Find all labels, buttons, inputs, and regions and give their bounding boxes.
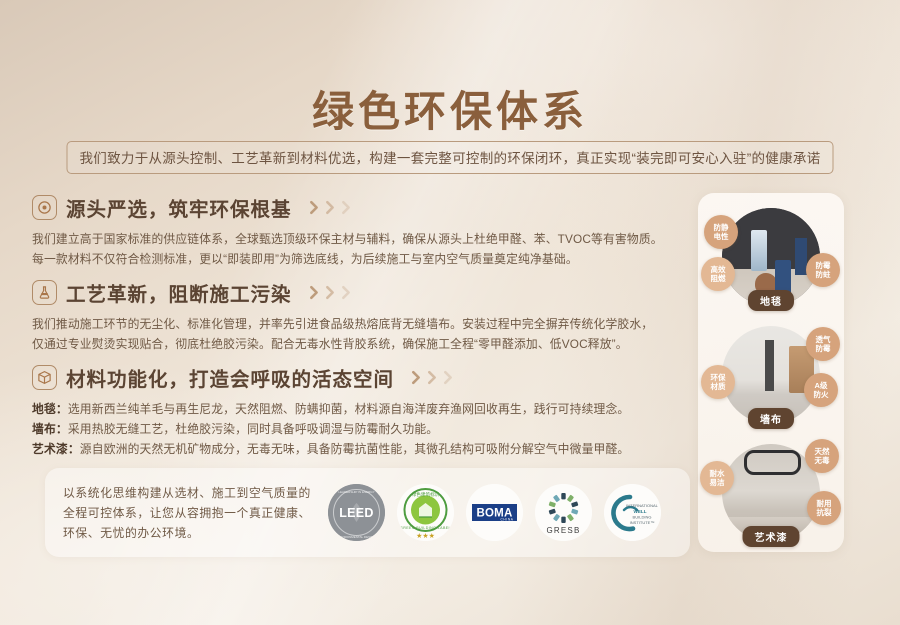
material-item: 地毯：选用新西兰纯羊毛与再生尼龙，天然阻燃、防螨抑菌，材料源自海洋废弃渔网回收再… <box>32 399 692 419</box>
section-header: 工艺革新，阻断施工污染 <box>32 275 692 309</box>
feature-badge: 防霉防蛀 <box>806 253 840 287</box>
material-key: 艺术漆 <box>32 442 68 456</box>
section-header: 源头严选，筑牢环保根基 <box>32 190 692 224</box>
badge-line: 天然 <box>815 447 830 456</box>
badge-line: 环保 <box>711 373 726 382</box>
badge-line: 耐水 <box>710 469 725 478</box>
section-material-function: 材料功能化，打造会呼吸的活态空间 地毯：选用新西兰纯羊毛与再生尼龙，天然阻燃、防… <box>32 360 692 459</box>
material-text: 采用热胶无缝工艺，杜绝胶污染，同时具备呼吸调湿与防霉耐久功能。 <box>68 422 438 436</box>
badge-line: 阻燃 <box>711 274 726 283</box>
body-line: 我们建立高于国家标准的供应链体系，全球甄选顶级环保主材与辅料，确保从源头上杜绝甲… <box>32 229 692 249</box>
body-line: 仅通过专业熨烫实现贴合，彻底杜绝胶污染。配合无毒水性背胶系统，确保施工全程“零甲… <box>32 334 692 354</box>
svg-text:ENVIRONMENTAL DESIGN: ENVIRONMENTAL DESIGN <box>338 535 376 539</box>
feature-badge: 耐用抗裂 <box>807 491 841 525</box>
badge-line: 耐用 <box>817 499 832 508</box>
feature-badge: 防静电性 <box>704 215 738 249</box>
badge-line: 防霉 <box>816 344 831 353</box>
material-text: 源自欧洲的天然无机矿物成分，无毒无味，具备防霉抗菌性能，其微孔结构可吸附分解空气… <box>80 442 630 456</box>
material-item: 艺术漆：源自欧洲的天然无机矿物成分，无毒无味，具备防霉抗菌性能，其微孔结构可吸附… <box>32 439 692 459</box>
section-body: 我们推动施工环节的无尘化、标准化管理，并率先引进食品级热熔底背无缝墙布。安装过程… <box>32 314 692 354</box>
badge-line: 抗裂 <box>817 508 832 517</box>
section-process-innovation: 工艺革新，阻断施工污染 我们推动施工环节的无尘化、标准化管理，并率先引进食品级热… <box>32 275 692 354</box>
badge-line: 材质 <box>711 382 726 391</box>
feature-badge: 高效阻燃 <box>701 257 735 291</box>
green-building-label-logo: 绿色建筑标识 GREEN BUILDING LABEL ★★★ <box>397 484 454 541</box>
badge-line: 高效 <box>711 265 726 274</box>
box-icon <box>32 365 57 390</box>
chevron-right-icon <box>409 369 456 386</box>
feature-badge: 环保材质 <box>701 365 735 399</box>
section-header: 材料功能化，打造会呼吸的活态空间 <box>32 360 692 394</box>
feature-badge: 透气防霉 <box>806 327 840 361</box>
product-name-pill: 艺术漆 <box>743 526 800 547</box>
subtitle-text: 我们致力于从源头控制、工艺革新到材料优选，构建一套完整可控制的环保闭环，真正实现… <box>80 147 821 167</box>
svg-text:绿色建筑标识: 绿色建筑标识 <box>412 491 440 498</box>
section-title: 工艺革新，阻断施工污染 <box>66 278 292 307</box>
svg-text:LEADERSHIP IN ENERGY: LEADERSHIP IN ENERGY <box>338 490 374 494</box>
body-line: 我们推动施工环节的无尘化、标准化管理，并率先引进食品级热熔底背无缝墙布。安装过程… <box>32 314 692 334</box>
material-text: 选用新西兰纯羊毛与再生尼龙，天然阻燃、防螨抑菌，材料源自海洋废弃渔网回收再生，践… <box>68 402 630 416</box>
badge-line: A级 <box>814 381 829 390</box>
material-separator: ： <box>56 402 68 416</box>
feature-badge: 耐水易洁 <box>700 461 734 495</box>
content-column: 源头严选，筑牢环保根基 我们建立高于国家标准的供应链体系，全球甄选顶级环保主材与… <box>32 190 692 465</box>
svg-text:INTERNATIONAL: INTERNATIONAL <box>626 503 658 508</box>
boma-logo: BOMA CHINA <box>466 484 523 541</box>
product-panel: 防静电性 高效阻燃 防霉防蛀 地毯 透气防霉 环保材质 A级防火 墙布 <box>698 193 844 552</box>
section-source-selection: 源头严选，筑牢环保根基 我们建立高于国家标准的供应链体系，全球甄选顶级环保主材与… <box>32 190 692 269</box>
chevron-right-icon <box>307 199 354 216</box>
product-name-pill: 墙布 <box>748 408 794 429</box>
material-key: 墙布 <box>32 422 56 436</box>
badge-line: 防静 <box>714 223 729 232</box>
badge-line: 透气 <box>816 335 831 344</box>
flask-icon <box>32 280 57 305</box>
svg-text:INSTITUTE™: INSTITUTE™ <box>630 520 655 525</box>
badge-line: 电性 <box>714 232 729 241</box>
material-separator: ： <box>68 442 80 456</box>
badge-line: 防霉 <box>816 261 831 270</box>
body-line: 每一款材料不仅符合检测标准，更以“即装即用”为筛选底线，为后续施工与室内空气质量… <box>32 249 692 269</box>
section-body: 我们建立高于国家标准的供应链体系，全球甄选顶级环保主材与辅料，确保从源头上杜绝甲… <box>32 229 692 269</box>
svg-text:CHINA: CHINA <box>501 517 514 521</box>
page-title: 绿色环保体系 <box>0 78 900 139</box>
section-title: 源头严选，筑牢环保根基 <box>66 193 292 222</box>
svg-text:★★★: ★★★ <box>416 532 435 540</box>
svg-text:GRESB: GRESB <box>546 526 580 535</box>
product-name-pill: 地毯 <box>748 290 794 311</box>
product-card-wall-fabric: 透气防霉 环保材质 A级防火 墙布 <box>698 317 844 435</box>
badge-line: 无毒 <box>815 456 830 465</box>
material-key: 地毯 <box>32 402 56 416</box>
badge-line: 防火 <box>814 390 829 399</box>
product-card-carpet: 防静电性 高效阻燃 防霉防蛀 地毯 <box>698 199 844 317</box>
gresb-logo: GRESB <box>535 484 592 541</box>
leed-logo: LEED LEADERSHIP IN ENERGY ENVIRONMENTAL … <box>328 484 385 541</box>
badge-line: 易洁 <box>710 478 725 487</box>
chevron-right-icon <box>307 284 354 301</box>
certification-summary-text: 以系统化思维构建从选材、施工到空气质量的全程可控体系，让您从容拥抱一个真正健康、… <box>63 483 318 543</box>
subtitle-banner: 我们致力于从源头控制、工艺革新到材料优选，构建一套完整可控制的环保闭环，真正实现… <box>67 141 834 174</box>
feature-badge: 天然无毒 <box>805 439 839 473</box>
certification-logo-row: LEED LEADERSHIP IN ENERGY ENVIRONMENTAL … <box>328 484 661 541</box>
svg-text:BUILDING: BUILDING <box>633 515 652 520</box>
section-title: 材料功能化，打造会呼吸的活态空间 <box>66 363 394 392</box>
feature-badge: A级防火 <box>804 373 838 407</box>
material-item: 墙布：采用热胶无缝工艺，杜绝胶污染，同时具备呼吸调湿与防霉耐久功能。 <box>32 419 692 439</box>
product-card-art-paint: 天然无毒 耐水易洁 耐用抗裂 艺术漆 <box>698 435 844 553</box>
well-logo: INTERNATIONAL WELL BUILDING INSTITUTE™ <box>604 484 661 541</box>
badge-line: 防蛀 <box>816 270 831 279</box>
target-icon <box>32 195 57 220</box>
certification-card: 以系统化思维构建从选材、施工到空气质量的全程可控体系，让您从容拥抱一个真正健康、… <box>45 468 690 557</box>
svg-text:LEED: LEED <box>339 506 374 520</box>
material-list: 地毯：选用新西兰纯羊毛与再生尼龙，天然阻燃、防螨抑菌，材料源自海洋废弃渔网回收再… <box>32 399 692 459</box>
material-separator: ： <box>56 422 68 436</box>
svg-text:WELL: WELL <box>633 509 646 514</box>
poster-root: 绿色环保体系 我们致力于从源头控制、工艺革新到材料优选，构建一套完整可控制的环保… <box>0 0 900 625</box>
svg-text:GREEN BUILDING LABEL: GREEN BUILDING LABEL <box>400 526 451 530</box>
